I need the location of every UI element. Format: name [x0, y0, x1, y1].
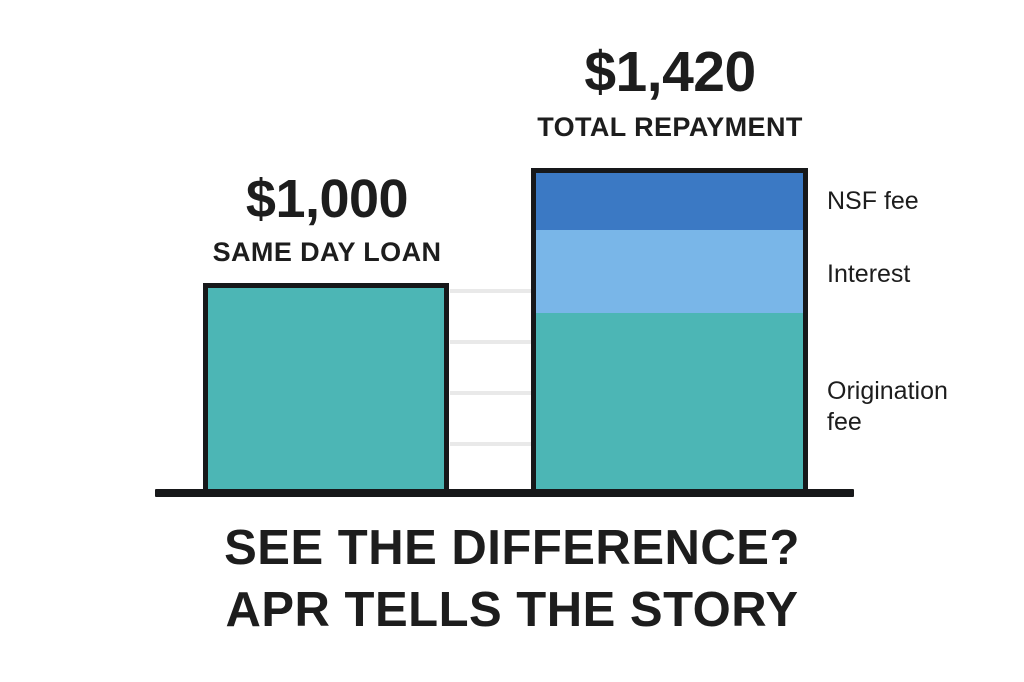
bar-segment-interest	[536, 230, 803, 313]
bar-segment-nsf-fee	[536, 173, 803, 230]
infographic-canvas: $1,000 SAME DAY LOAN $1,420 TOTAL REPAYM…	[0, 0, 1024, 682]
bar-total-repayment	[531, 168, 808, 494]
bar-segment-origination-fee	[536, 313, 803, 494]
legend-label-origination-fee: Origination fee	[827, 376, 997, 437]
gridline-2	[450, 340, 534, 344]
headline-line-1: SEE THE DIFFERENCE?	[0, 518, 1024, 580]
chart-baseline-axis	[155, 489, 854, 497]
bar-same-day-loan	[203, 283, 449, 494]
legend-label-interest: Interest	[827, 259, 910, 290]
headline-line-2: APR TELLS THE STORY	[0, 580, 1024, 642]
gridline-3	[450, 391, 534, 395]
gridline-1	[450, 289, 534, 293]
legend-label-nsf-fee: NSF fee	[827, 186, 919, 217]
gridline-4	[450, 442, 534, 446]
headline: SEE THE DIFFERENCE? APR TELLS THE STORY	[0, 518, 1024, 641]
